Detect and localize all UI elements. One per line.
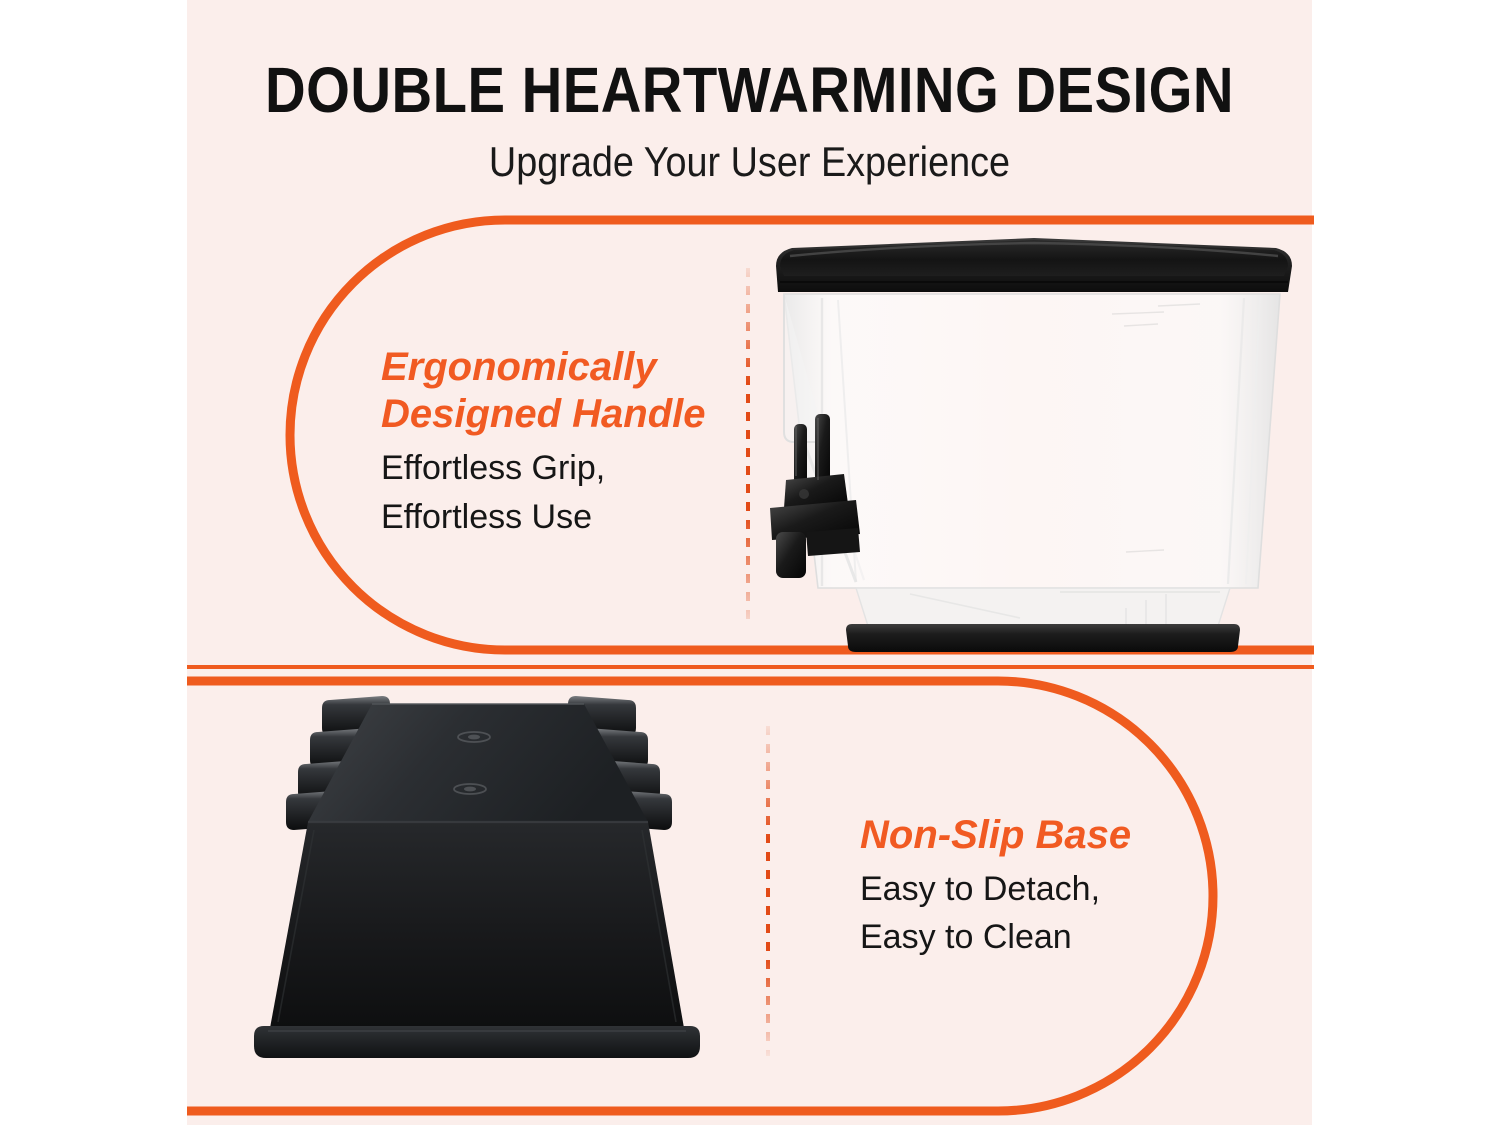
non-slip-base-body bbox=[270, 822, 684, 1028]
feature-non-slip-base: Non-Slip Base Easy to Detach, Easy to Cl… bbox=[860, 812, 1240, 962]
feature-body-ergonomic-handle: Effortless Grip, Effortless Use bbox=[381, 444, 781, 541]
infographic-stage: DOUBLE HEARTWARMING DESIGN Upgrade Your … bbox=[0, 0, 1500, 1125]
feature-body-non-slip-base: Easy to Detach, Easy to Clean bbox=[860, 865, 1240, 962]
dispenser-base-plate bbox=[846, 624, 1240, 652]
product-image-non-slip-base bbox=[248, 690, 738, 1070]
product-image-beverage-dispenser bbox=[760, 236, 1320, 656]
feature-title-ergonomic-handle: Ergonomically Designed Handle bbox=[381, 344, 781, 438]
dashed-divider-bottom bbox=[766, 726, 770, 1056]
feature-title-non-slip-base: Non-Slip Base bbox=[860, 812, 1240, 859]
feature-ergonomic-handle: Ergonomically Designed Handle Effortless… bbox=[381, 344, 781, 541]
